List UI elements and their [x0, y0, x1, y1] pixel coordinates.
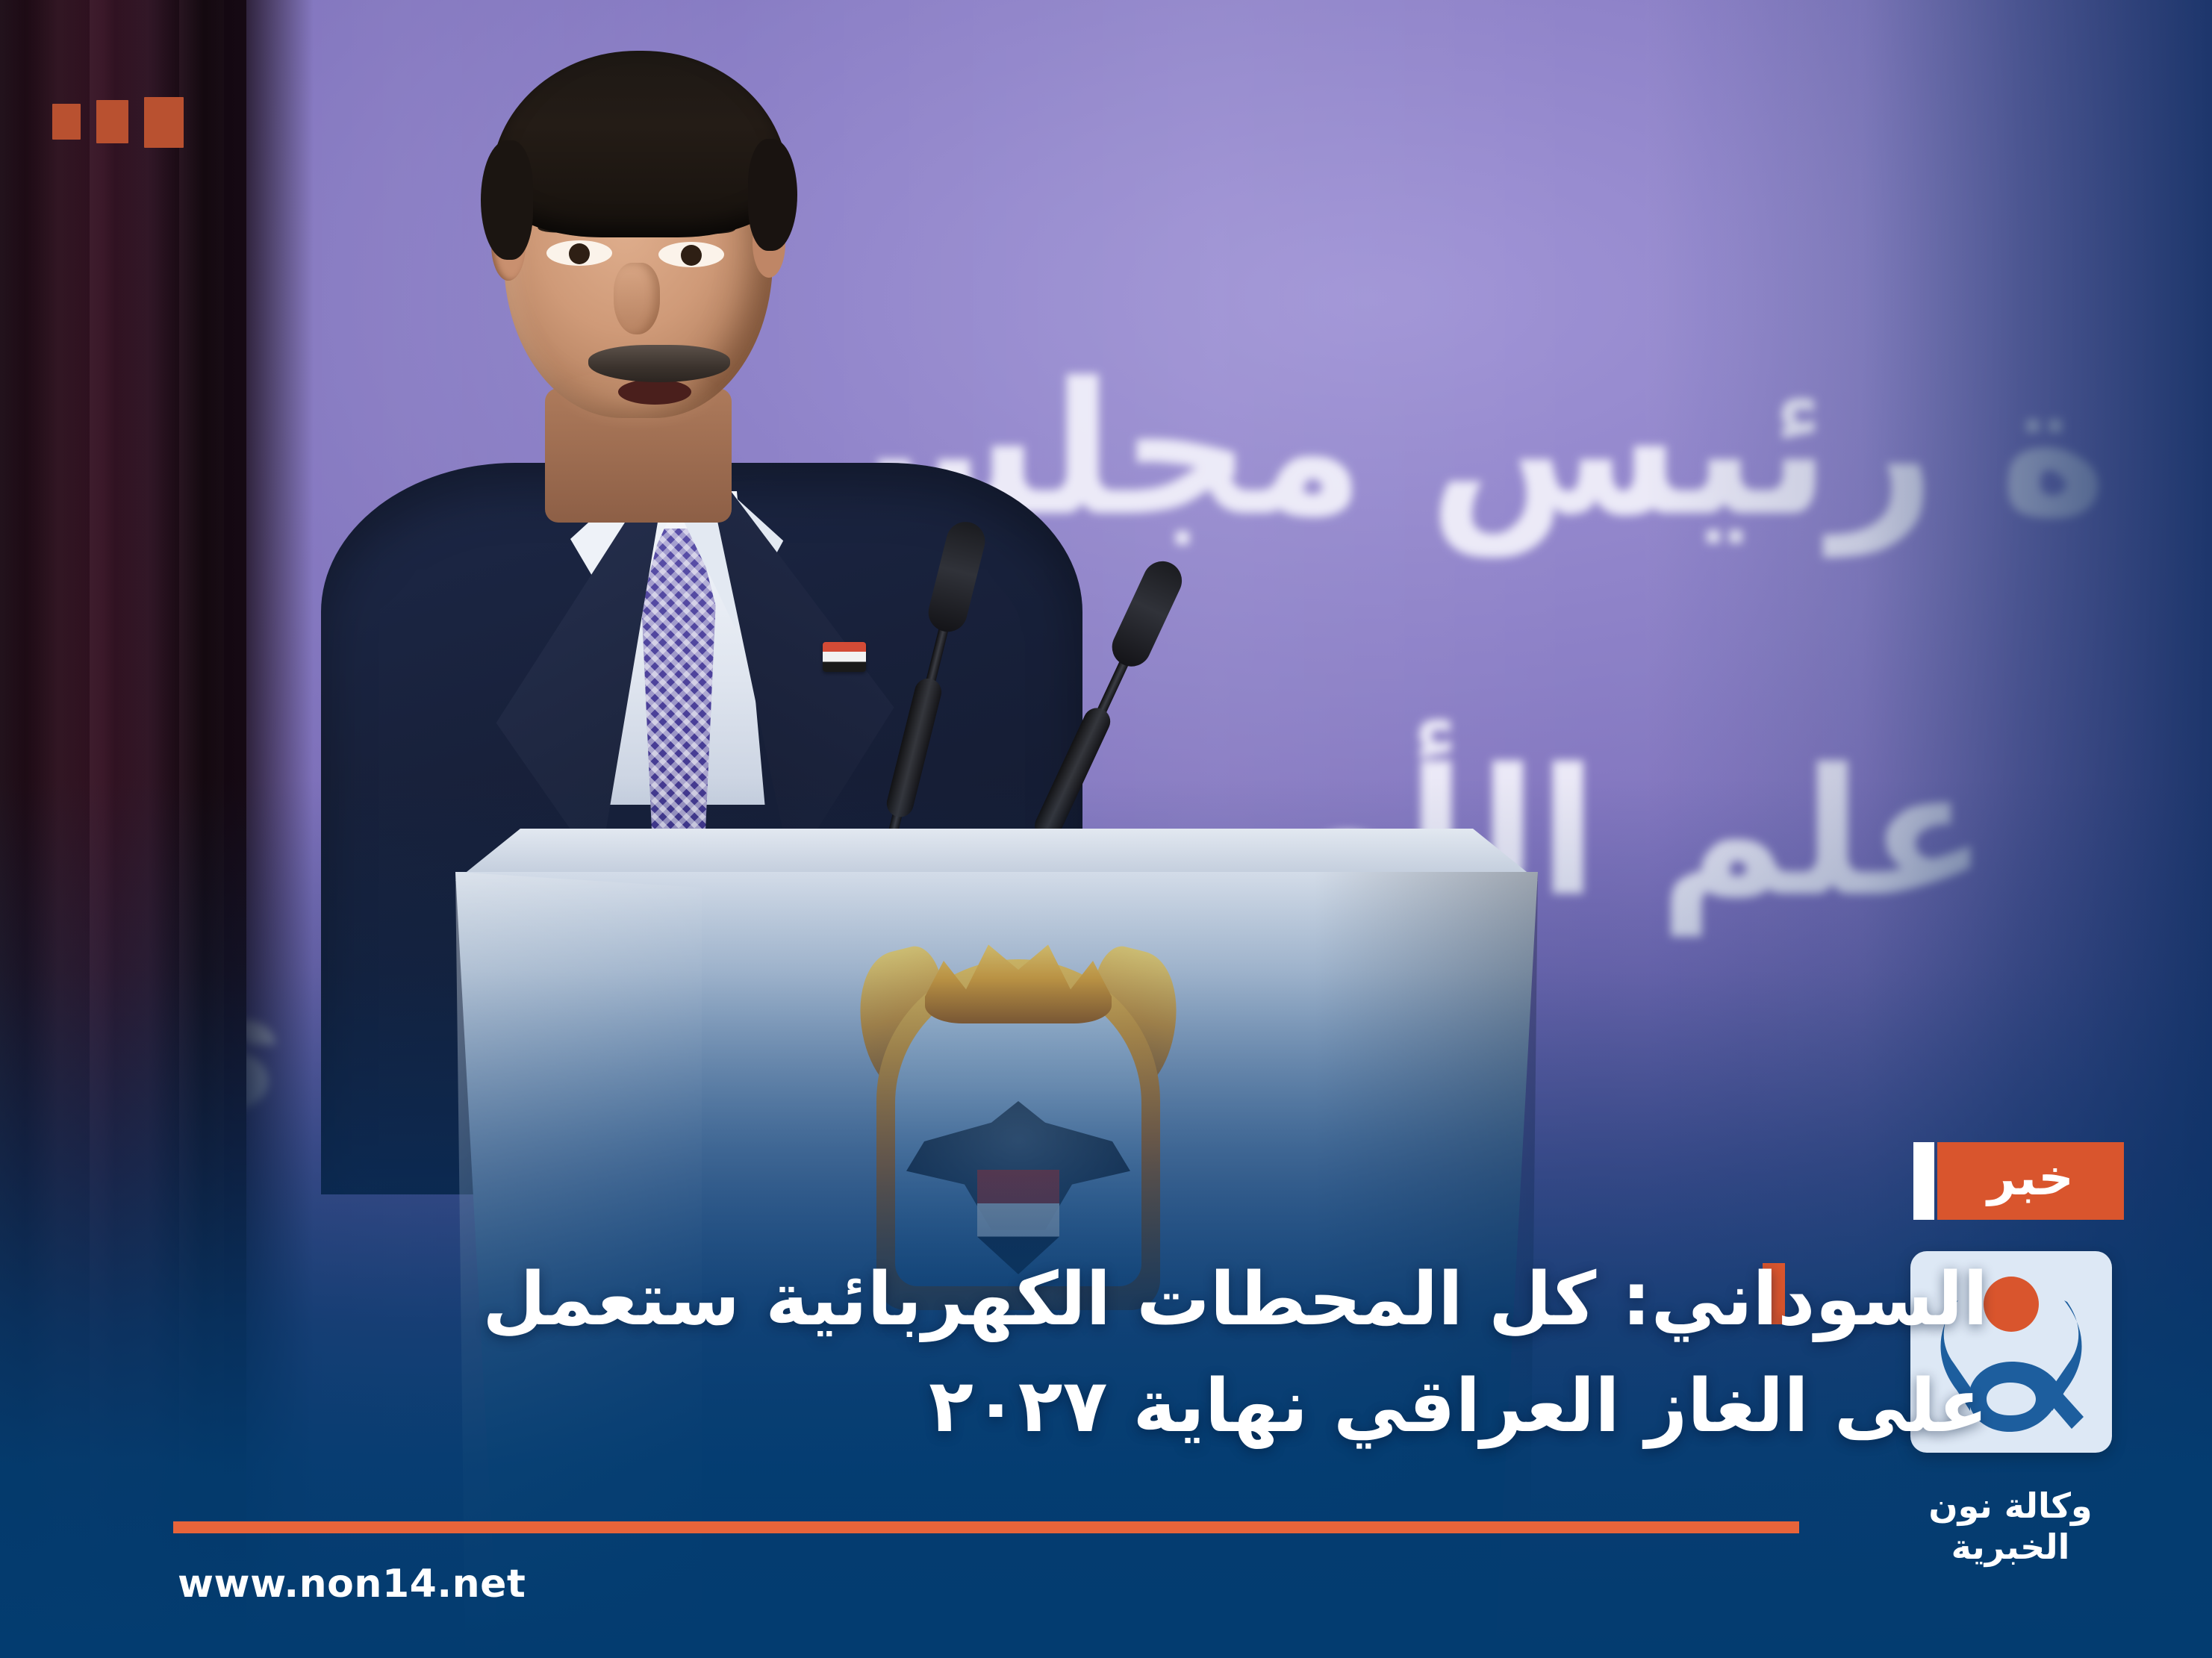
hair	[491, 51, 788, 237]
nose	[614, 263, 660, 334]
brand-bars-icon	[52, 97, 184, 148]
moustache	[588, 345, 730, 382]
headline-line-1: السوداني: كل المحطات الكهربائية ستعمل	[361, 1247, 1988, 1353]
agency-name: وكالة نون الخبرية	[1884, 1486, 2137, 1568]
news-card: ة رئيس مجلس علم الأه اء ي	[0, 0, 2212, 1658]
headline-line-2: على الغاز العراقي نهاية ٢٠٢٧	[361, 1353, 1988, 1460]
status-badge: خبر	[1913, 1142, 2124, 1220]
badge-label: خبر	[1937, 1142, 2124, 1220]
badge-tick	[1913, 1142, 1934, 1220]
footer-divider	[173, 1521, 1799, 1533]
eye-right	[658, 242, 724, 267]
page-title: السوداني: كل المحطات الكهربائية ستعمل عل…	[361, 1247, 1988, 1460]
iraq-flag-lapel-pin-icon	[823, 642, 866, 672]
eye-left	[546, 240, 612, 266]
website-url[interactable]: www.non14.net	[178, 1562, 526, 1606]
mouth	[618, 379, 691, 405]
